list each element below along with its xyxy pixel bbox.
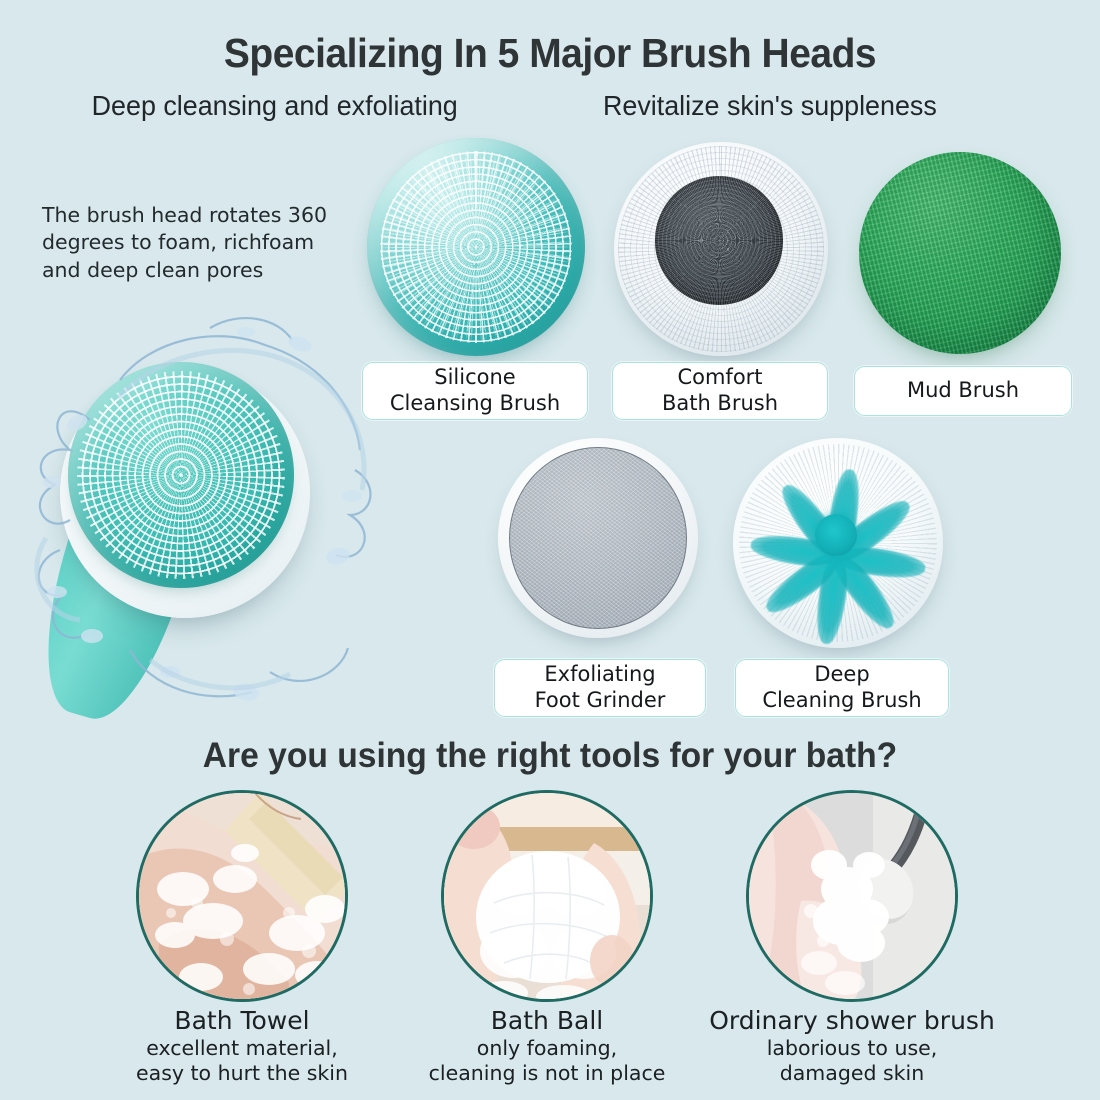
comfort-dark-core [655, 176, 783, 304]
label-mud-brush: Mud Brush [854, 366, 1072, 416]
caption-line-2: cleaning is not in place [382, 1061, 712, 1086]
caption-title: Ordinary shower brush [687, 1006, 1017, 1036]
caption-line-2: damaged skin [687, 1061, 1017, 1086]
page-title: Specializing In 5 Major Brush Heads [28, 30, 1073, 77]
comparison-heading: Are you using the right tools for your b… [22, 736, 1078, 776]
label-line-1: Exfoliating [535, 662, 666, 688]
bath-towel-illustration [139, 793, 348, 1002]
caption-bath-towel: Bath Towel excellent material, easy to h… [77, 1006, 407, 1086]
brush-head-comfort-bath [614, 142, 828, 356]
product-infographic: Specializing In 5 Major Brush Heads Deep… [0, 0, 1100, 1100]
hero-product-image [0, 300, 400, 730]
brush-head-mud [859, 152, 1061, 354]
caption-bath-ball: Bath Ball only foaming, cleaning is not … [382, 1006, 712, 1086]
hero-silicone-brush-disc [68, 362, 294, 588]
brush-head-exfoliating-foot-grinder [498, 438, 698, 638]
brush-head-deep-cleaning [733, 438, 943, 648]
label-deep-cleaning-brush: Deep Cleaning Brush [735, 659, 949, 717]
caption-ordinary-shower-brush: Ordinary shower brush laborious to use, … [687, 1006, 1017, 1086]
label-exfoliating-foot-grinder: Exfoliating Foot Grinder [494, 659, 706, 717]
label-line-1: Mud Brush [907, 378, 1019, 404]
grinder-abrasive-face [509, 447, 687, 629]
bath-ball-illustration [444, 793, 653, 1002]
label-line-2: Bath Brush [662, 391, 778, 417]
caption-line-1: only foaming, [382, 1036, 712, 1061]
hero-bristle-pattern [77, 371, 285, 579]
rotation-description: The brush head rotates 360 degrees to fo… [42, 202, 342, 284]
label-line-1: Comfort [662, 365, 778, 391]
caption-line-2: easy to hurt the skin [77, 1061, 407, 1086]
caption-line-1: excellent material, [77, 1036, 407, 1061]
photo-bath-ball [441, 790, 653, 1002]
subtitle-right: Revitalize skin's suppleness [603, 90, 937, 122]
subtitle-left: Deep cleansing and exfoliating [92, 90, 458, 122]
brush-head-silicone-cleansing [367, 138, 585, 356]
label-line-1: Deep [762, 662, 921, 688]
label-line-2: Cleansing Brush [390, 391, 560, 417]
label-comfort-bath-brush: Comfort Bath Brush [612, 362, 828, 420]
caption-title: Bath Towel [77, 1006, 407, 1036]
photo-ordinary-shower-brush [746, 790, 958, 1002]
photo-bath-towel [136, 790, 348, 1002]
deep-cleaning-center-hub [815, 514, 857, 556]
label-line-2: Cleaning Brush [762, 688, 921, 714]
silicone-highlight [367, 138, 585, 356]
label-silicone-cleansing-brush: Silicone Cleansing Brush [362, 362, 588, 420]
label-line-2: Foot Grinder [535, 688, 666, 714]
shower-brush-illustration [749, 793, 958, 1002]
caption-line-1: laborious to use, [687, 1036, 1017, 1061]
caption-title: Bath Ball [382, 1006, 712, 1036]
label-line-1: Silicone [390, 365, 560, 391]
